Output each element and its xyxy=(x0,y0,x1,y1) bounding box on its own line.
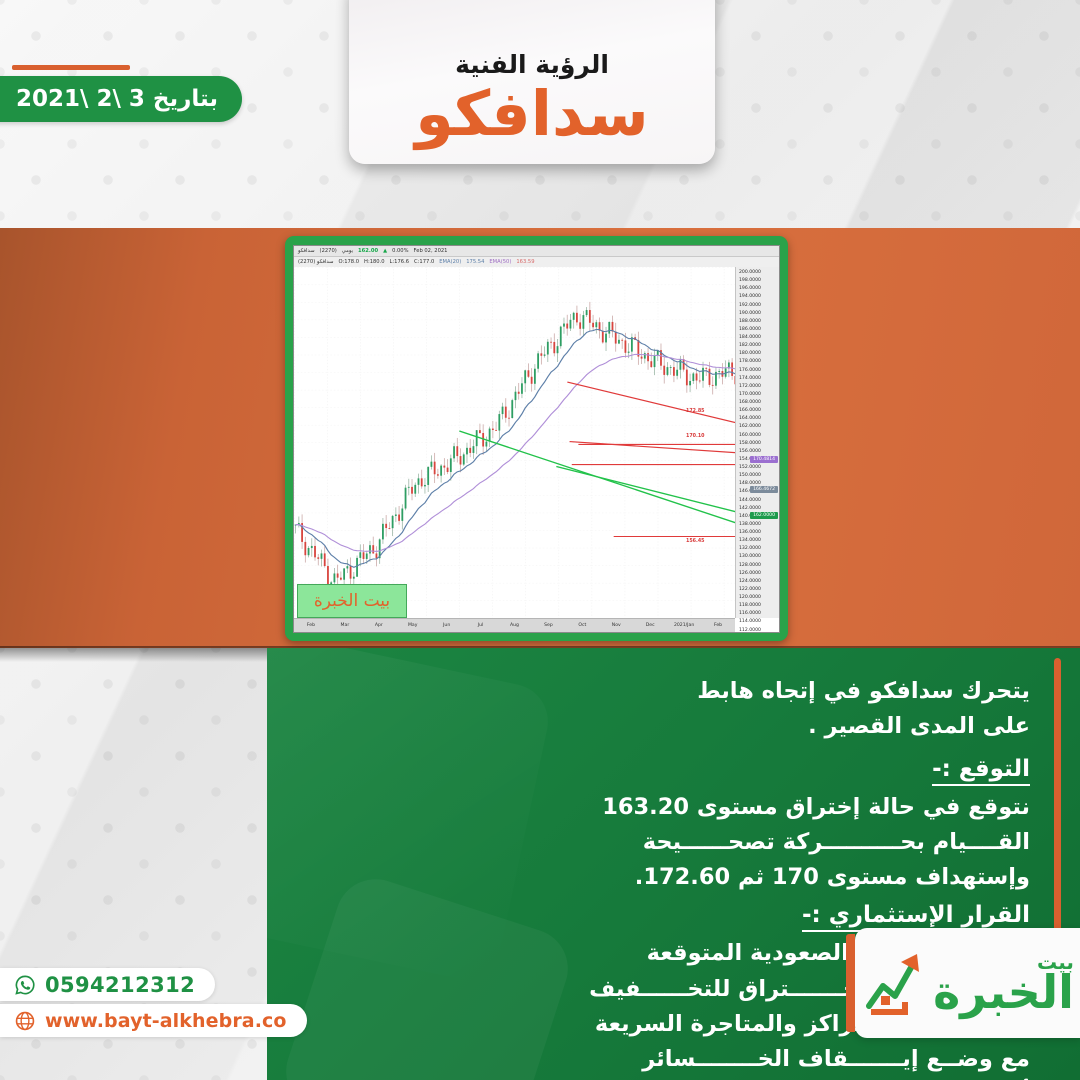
globe-icon xyxy=(14,1010,36,1032)
accent-rule xyxy=(12,65,130,70)
price-tick: 174.0000 xyxy=(736,375,779,383)
chart-up-arrow-icon: ▲ xyxy=(383,248,387,254)
chart-header-row-1: سدافكو (2270) يومي 162.00 ▲ 0.00% Feb 02… xyxy=(294,246,779,257)
chart-ohlc-label: سدافكو (2270) xyxy=(298,259,333,265)
price-tick: 160.0000 xyxy=(736,432,779,440)
chart-date: Feb 02, 2021 xyxy=(414,248,448,254)
analysis-heading-forecast: التوقع :- xyxy=(932,756,1030,786)
chart-symbol-code: (2270) xyxy=(320,248,337,254)
price-tick: 196.0000 xyxy=(736,285,779,293)
price-tick: 138.0000 xyxy=(736,521,779,529)
price-tick: 182.0000 xyxy=(736,342,779,350)
price-tick: 158.0000 xyxy=(736,440,779,448)
time-tick: May xyxy=(396,623,430,628)
time-tick: Feb xyxy=(701,623,735,628)
phone-number: 0594212312 xyxy=(45,973,195,997)
level-label-172: 172.85 xyxy=(686,409,705,414)
price-tick: 188.0000 xyxy=(736,318,779,326)
price-tick: 144.0000 xyxy=(736,497,779,505)
price-tick: 130.0000 xyxy=(736,553,779,561)
analysis-line-1: يتحرك سدافكو في إتجاه هابط xyxy=(267,674,1030,709)
price-tick: 136.0000 xyxy=(736,529,779,537)
time-tick: Nov xyxy=(599,623,633,628)
level-label-170: 170.10 xyxy=(686,434,705,439)
price-tag: 166.4672 xyxy=(750,486,778,493)
chart-change-pct: 0.00% xyxy=(392,248,408,254)
price-tick: 172.0000 xyxy=(736,383,779,391)
contact-website[interactable]: www.bayt-alkhebra.co xyxy=(0,1004,307,1037)
analysis-line-2: على المدى القصير . xyxy=(267,709,1030,744)
logo-word-khebra: الخبرة xyxy=(933,971,1074,1013)
chart-market-label: يومي xyxy=(342,248,353,254)
price-tick: 120.0000 xyxy=(736,594,779,602)
price-tag: 170.4814 xyxy=(750,456,778,463)
chart-close: C:177.0 xyxy=(414,259,434,265)
price-tick: 170.0000 xyxy=(736,391,779,399)
price-tick: 150.0000 xyxy=(736,472,779,480)
price-tick: 116.0000 xyxy=(736,610,779,618)
title-card: الرؤية الفنية سدافكو xyxy=(349,0,715,164)
price-tick: 134.0000 xyxy=(736,537,779,545)
logo-wordmark: بيت الخبرة xyxy=(933,953,1074,1014)
time-tick: Jun xyxy=(430,623,464,628)
time-tick: Jul xyxy=(464,623,498,628)
price-tick: 118.0000 xyxy=(736,602,779,610)
price-tick: 184.0000 xyxy=(736,334,779,342)
price-tick: 180.0000 xyxy=(736,350,779,358)
contact-phone[interactable]: 0594212312 xyxy=(0,968,215,1001)
time-axis: FebMarAprMayJunJulAugSepOctNovDec2021/Ja… xyxy=(294,618,735,632)
time-tick: Aug xyxy=(498,623,532,628)
brand-logo[interactable]: بيت الخبرة xyxy=(855,928,1080,1038)
price-tick: 128.0000 xyxy=(736,562,779,570)
price-tick: 162.0000 xyxy=(736,423,779,431)
price-tick: 200.0000 xyxy=(736,269,779,277)
chart-canvas[interactable]: سدافكو (2270) يومي 162.00 ▲ 0.00% Feb 02… xyxy=(293,245,780,633)
analysis-line-4: القــــيام بحــــــــــركة تصحــــــيحة xyxy=(267,825,1030,860)
price-tick: 186.0000 xyxy=(736,326,779,334)
time-tick: 2021/Jan xyxy=(667,623,701,628)
price-tick: 124.0000 xyxy=(736,578,779,586)
price-tick: 164.0000 xyxy=(736,415,779,423)
chart-open: O:178.0 xyxy=(338,259,359,265)
price-tick: 156.0000 xyxy=(736,448,779,456)
price-tick: 190.0000 xyxy=(736,310,779,318)
price-tick: 152.0000 xyxy=(736,464,779,472)
time-tick: Sep xyxy=(531,623,565,628)
time-tick: Apr xyxy=(362,623,396,628)
price-tick: 122.0000 xyxy=(736,586,779,594)
website-url: www.bayt-alkhebra.co xyxy=(45,1010,287,1032)
price-tick: 168.0000 xyxy=(736,399,779,407)
plot-area: 172.85 170.10 156.45 xyxy=(294,267,779,618)
price-tick: 178.0000 xyxy=(736,358,779,366)
page-title: سدافكو xyxy=(415,81,649,146)
price-tick: 166.0000 xyxy=(736,407,779,415)
time-tick: Oct xyxy=(565,623,599,628)
growth-arrow-icon xyxy=(861,946,929,1020)
chart-watermark: بيت الخبرة xyxy=(297,584,407,618)
chart-frame: سدافكو (2270) يومي 162.00 ▲ 0.00% Feb 02… xyxy=(285,236,788,641)
price-tick: 176.0000 xyxy=(736,367,779,375)
price-tick: 112.0000 xyxy=(736,627,779,634)
title-subtitle: الرؤية الفنية xyxy=(455,50,609,79)
chart-ema50-value: 163.59 xyxy=(516,259,534,265)
price-tick: 194.0000 xyxy=(736,293,779,301)
chart-last-price: 162.00 xyxy=(358,248,378,254)
level-label-156: 156.45 xyxy=(686,539,705,544)
analysis-line-9: مع وضــع إيـــــــقاف الخــــــــسائر xyxy=(267,1042,1030,1077)
price-tick: 126.0000 xyxy=(736,570,779,578)
chart-high: H:180.0 xyxy=(364,259,385,265)
price-tag: 162.0000 xyxy=(750,512,778,519)
chart-ema50-label: EMA(50) xyxy=(489,259,511,265)
chart-ema20-value: 175.54 xyxy=(466,259,484,265)
time-tick: Mar xyxy=(328,623,362,628)
price-tick: 192.0000 xyxy=(736,302,779,310)
chart-ema20-label: EMA(20) xyxy=(439,259,461,265)
whatsapp-icon xyxy=(14,974,36,996)
candlestick-svg xyxy=(294,267,779,618)
chart-low: L:176.6 xyxy=(390,259,410,265)
orange-side-stripe xyxy=(1054,658,1061,958)
analysis-line-5: وإستهداف مستوى 170 ثم 172.60. xyxy=(267,860,1030,895)
price-tick: 114.0000 xyxy=(736,618,779,626)
price-tick: 132.0000 xyxy=(736,545,779,553)
price-axis: 200.0000198.0000196.0000194.0000192.0000… xyxy=(735,267,779,618)
price-tick: 198.0000 xyxy=(736,277,779,285)
chart-header-row-2: سدافكو (2270) O:178.0 H:180.0 L:176.6 C:… xyxy=(294,257,779,267)
chart-symbol-name: سدافكو xyxy=(298,248,315,254)
time-tick: Feb xyxy=(294,623,328,628)
analysis-line-3: نتوقع في حالة إختراق مستوى 163.20 xyxy=(267,790,1030,825)
date-badge: بتاريخ 3 \2 \2021 xyxy=(0,76,242,122)
time-tick: Dec xyxy=(633,623,667,628)
